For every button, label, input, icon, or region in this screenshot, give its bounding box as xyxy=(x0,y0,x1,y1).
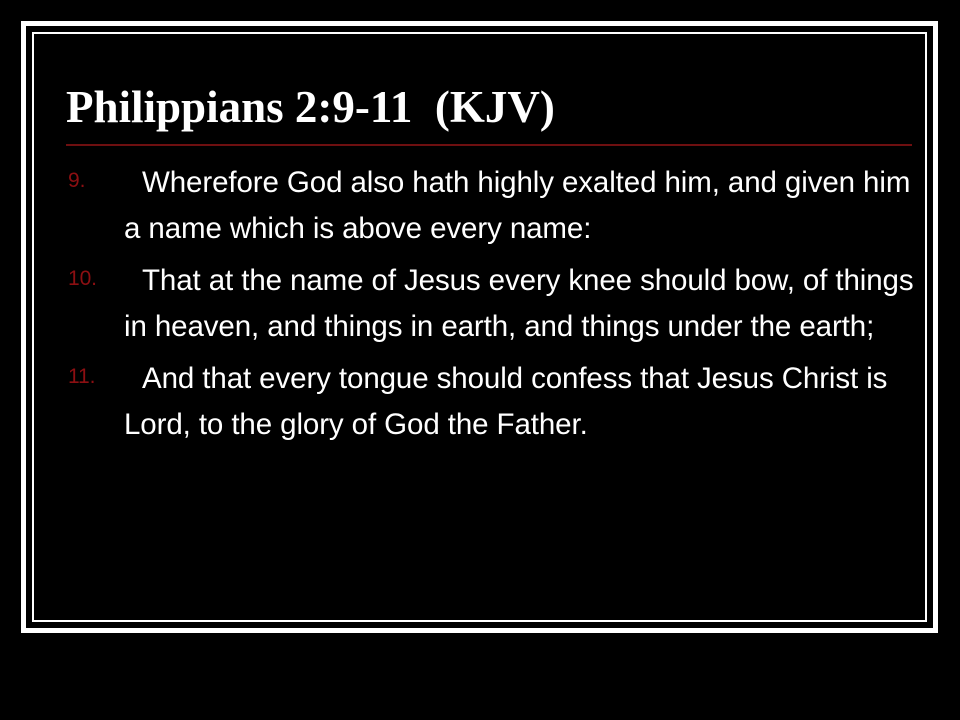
verse-text: Wherefore God also hath highly exalted h… xyxy=(124,160,914,252)
verse-number: 11. xyxy=(68,364,120,390)
verse-text: And that every tongue should confess tha… xyxy=(124,356,914,448)
verse-number: 9. xyxy=(68,168,120,194)
verse-item: 10. That at the name of Jesus every knee… xyxy=(66,258,914,350)
verse-list: 9. Wherefore God also hath highly exalte… xyxy=(66,160,914,448)
verse-number: 10. xyxy=(68,266,120,292)
verse-text: That at the name of Jesus every knee sho… xyxy=(124,258,914,350)
page-title: Philippians 2:9-11 (KJV) xyxy=(66,78,914,136)
verse-item: 11. And that every tongue should confess… xyxy=(66,356,914,448)
verse-item: 9. Wherefore God also hath highly exalte… xyxy=(66,160,914,252)
slide-content: Philippians 2:9-11 (KJV) 9. Wherefore Go… xyxy=(66,78,914,598)
title-divider xyxy=(66,144,912,146)
slide: Philippians 2:9-11 (KJV) 9. Wherefore Go… xyxy=(0,0,960,720)
